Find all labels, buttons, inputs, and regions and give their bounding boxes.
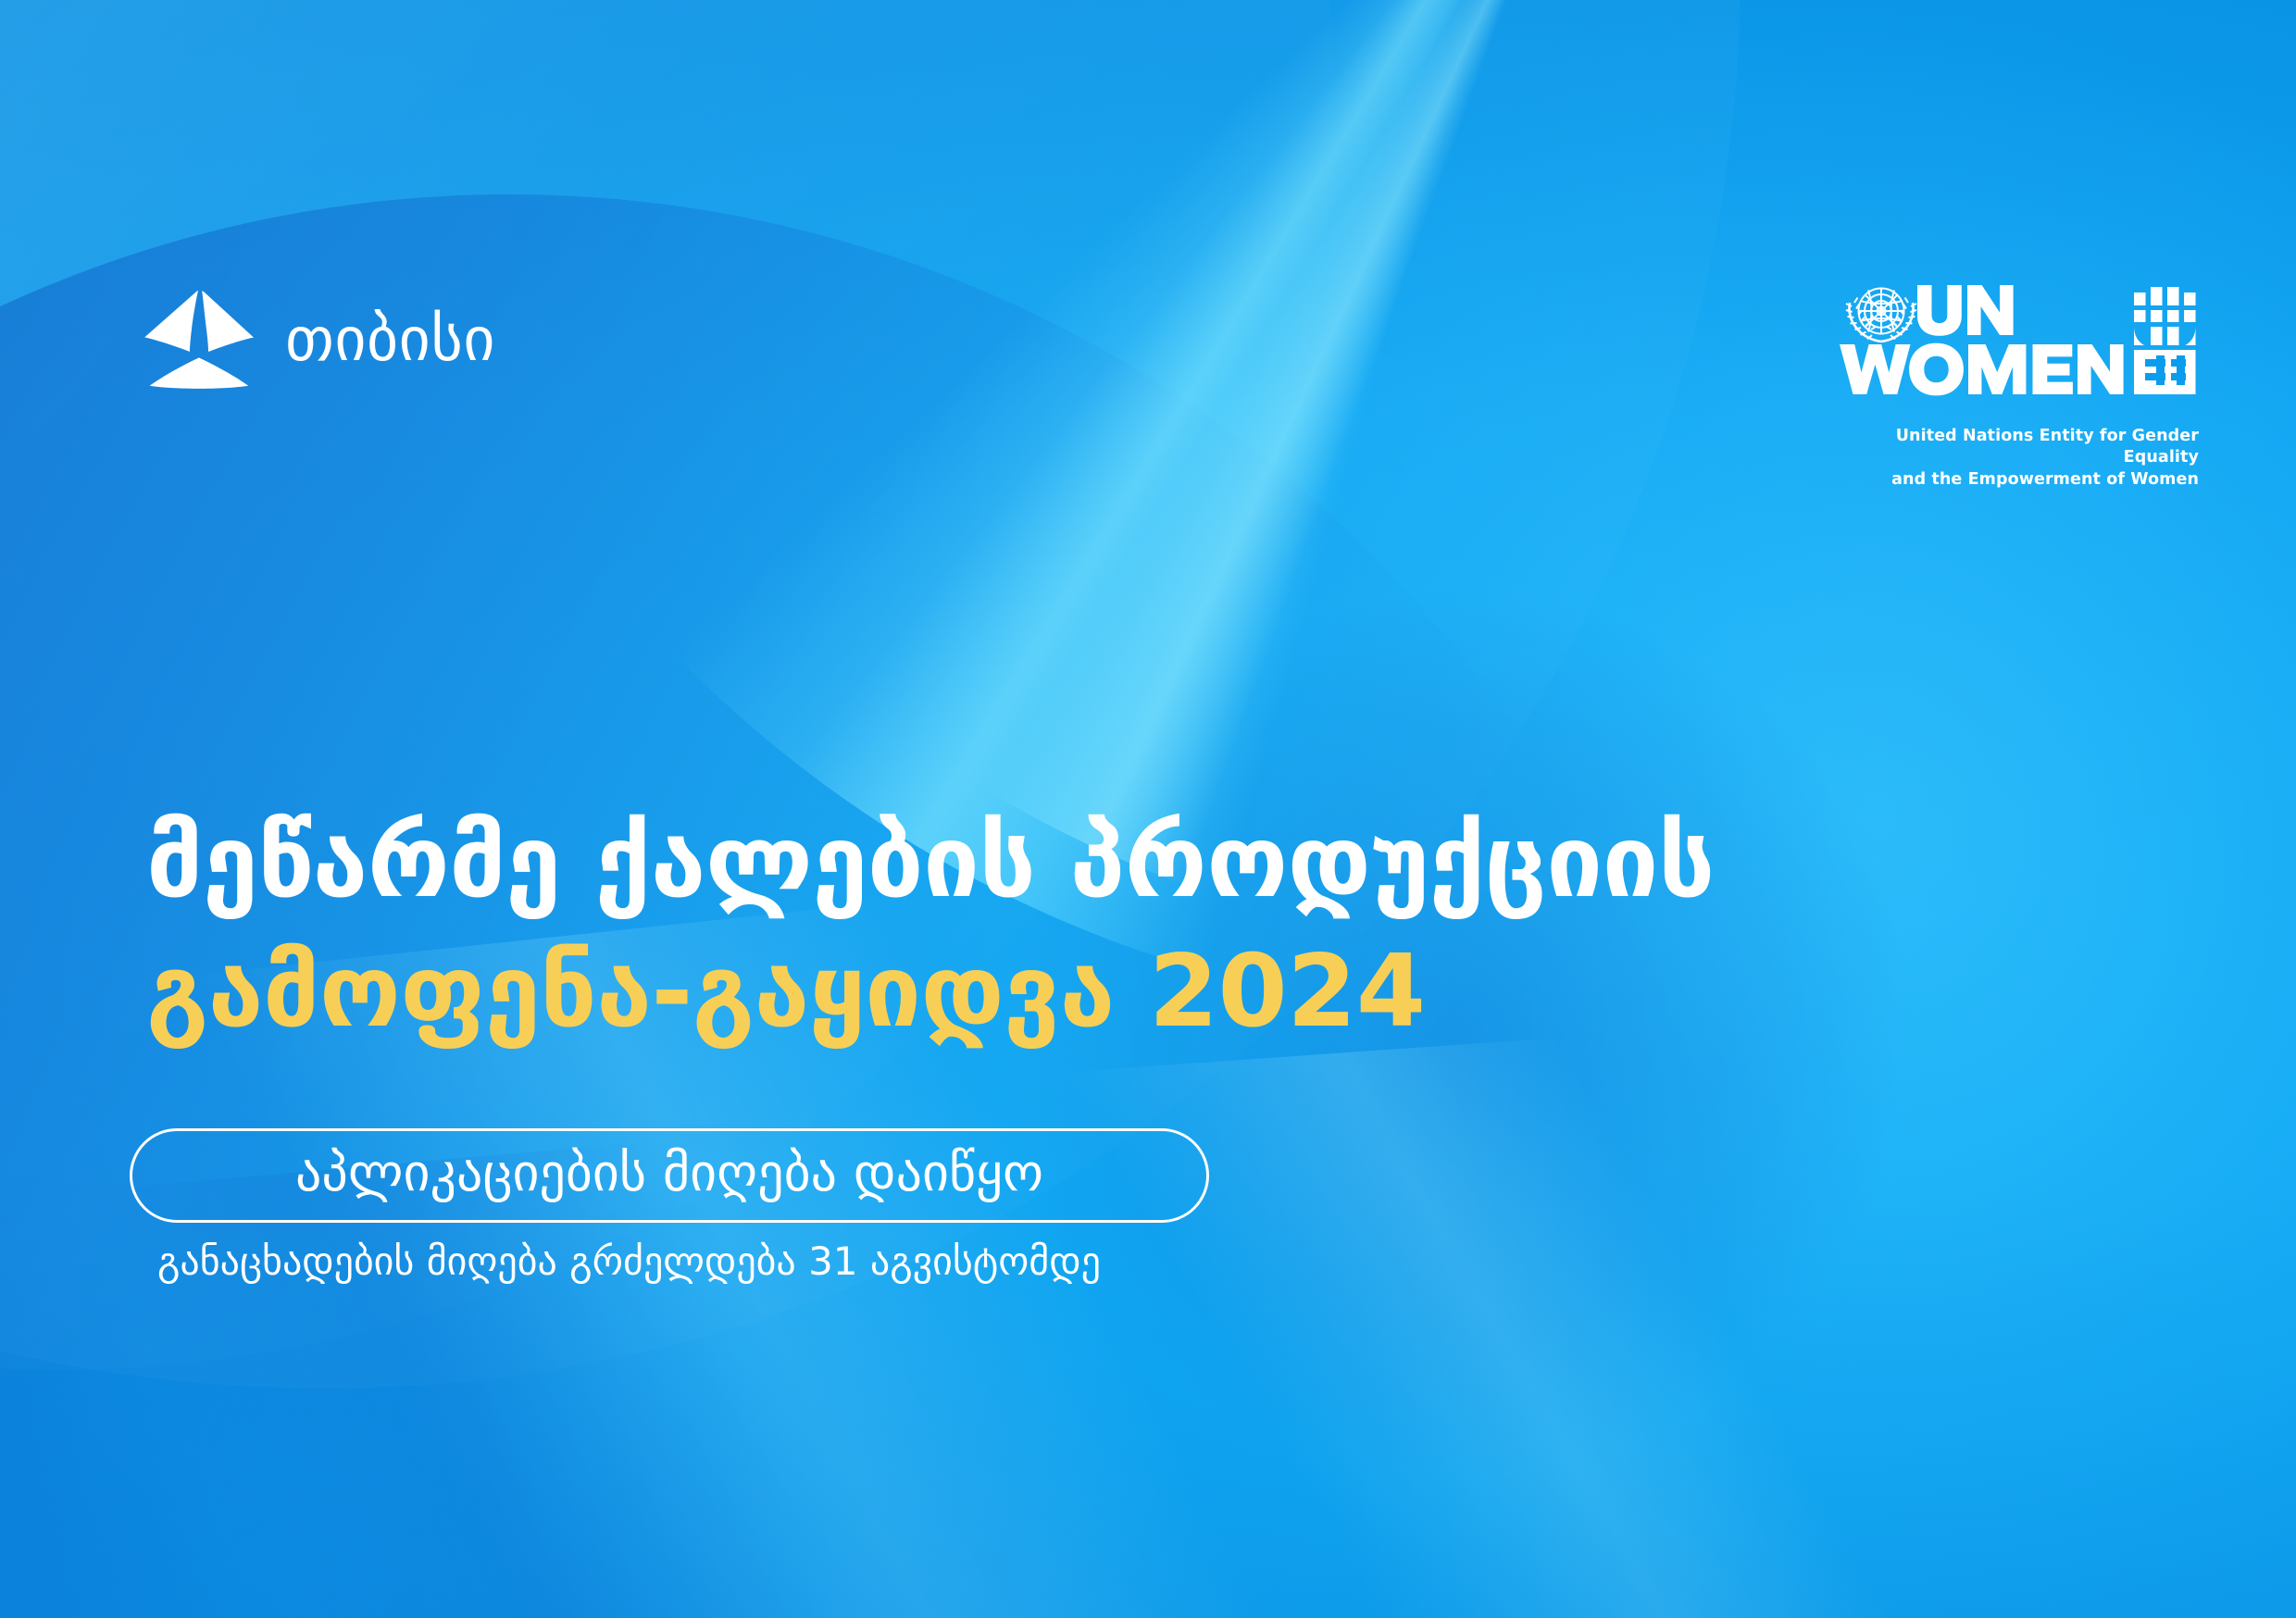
background-streak-lower bbox=[445, 961, 2296, 1618]
promotional-banner: თიბისი bbox=[0, 0, 2296, 1618]
deadline-note: განაცხადების მიღება გრძელდება 31 აგვისტო… bbox=[157, 1237, 1101, 1288]
applications-open-pill[interactable]: აპლიკაციების მიღება დაიწყო bbox=[130, 1128, 1209, 1223]
un-women-tagline: United Nations Entity for Gender Equalit… bbox=[1838, 426, 2199, 491]
tbc-logo: თიბისი bbox=[141, 289, 495, 391]
headline-line-secondary: გამოფენა-გაყიდვა 2024 bbox=[146, 927, 2257, 1057]
un-women-emblem-icon bbox=[1838, 278, 2199, 417]
un-globe-olive-branches-icon bbox=[1846, 289, 1916, 342]
un-women-logo: United Nations Entity for Gender Equalit… bbox=[1838, 278, 2199, 491]
headline-line-primary: მეწარმე ქალების პროდუქციის bbox=[146, 798, 2257, 927]
applications-open-pill-label: აპლიკაციების მიღება დაიწყო bbox=[295, 1148, 1043, 1200]
tbc-triangle-logo-icon bbox=[141, 289, 257, 391]
headline-block: მეწარმე ქალების პროდუქციის გამოფენა-გაყი… bbox=[146, 798, 2257, 1058]
tbc-wordmark: თიბისი bbox=[285, 309, 495, 370]
